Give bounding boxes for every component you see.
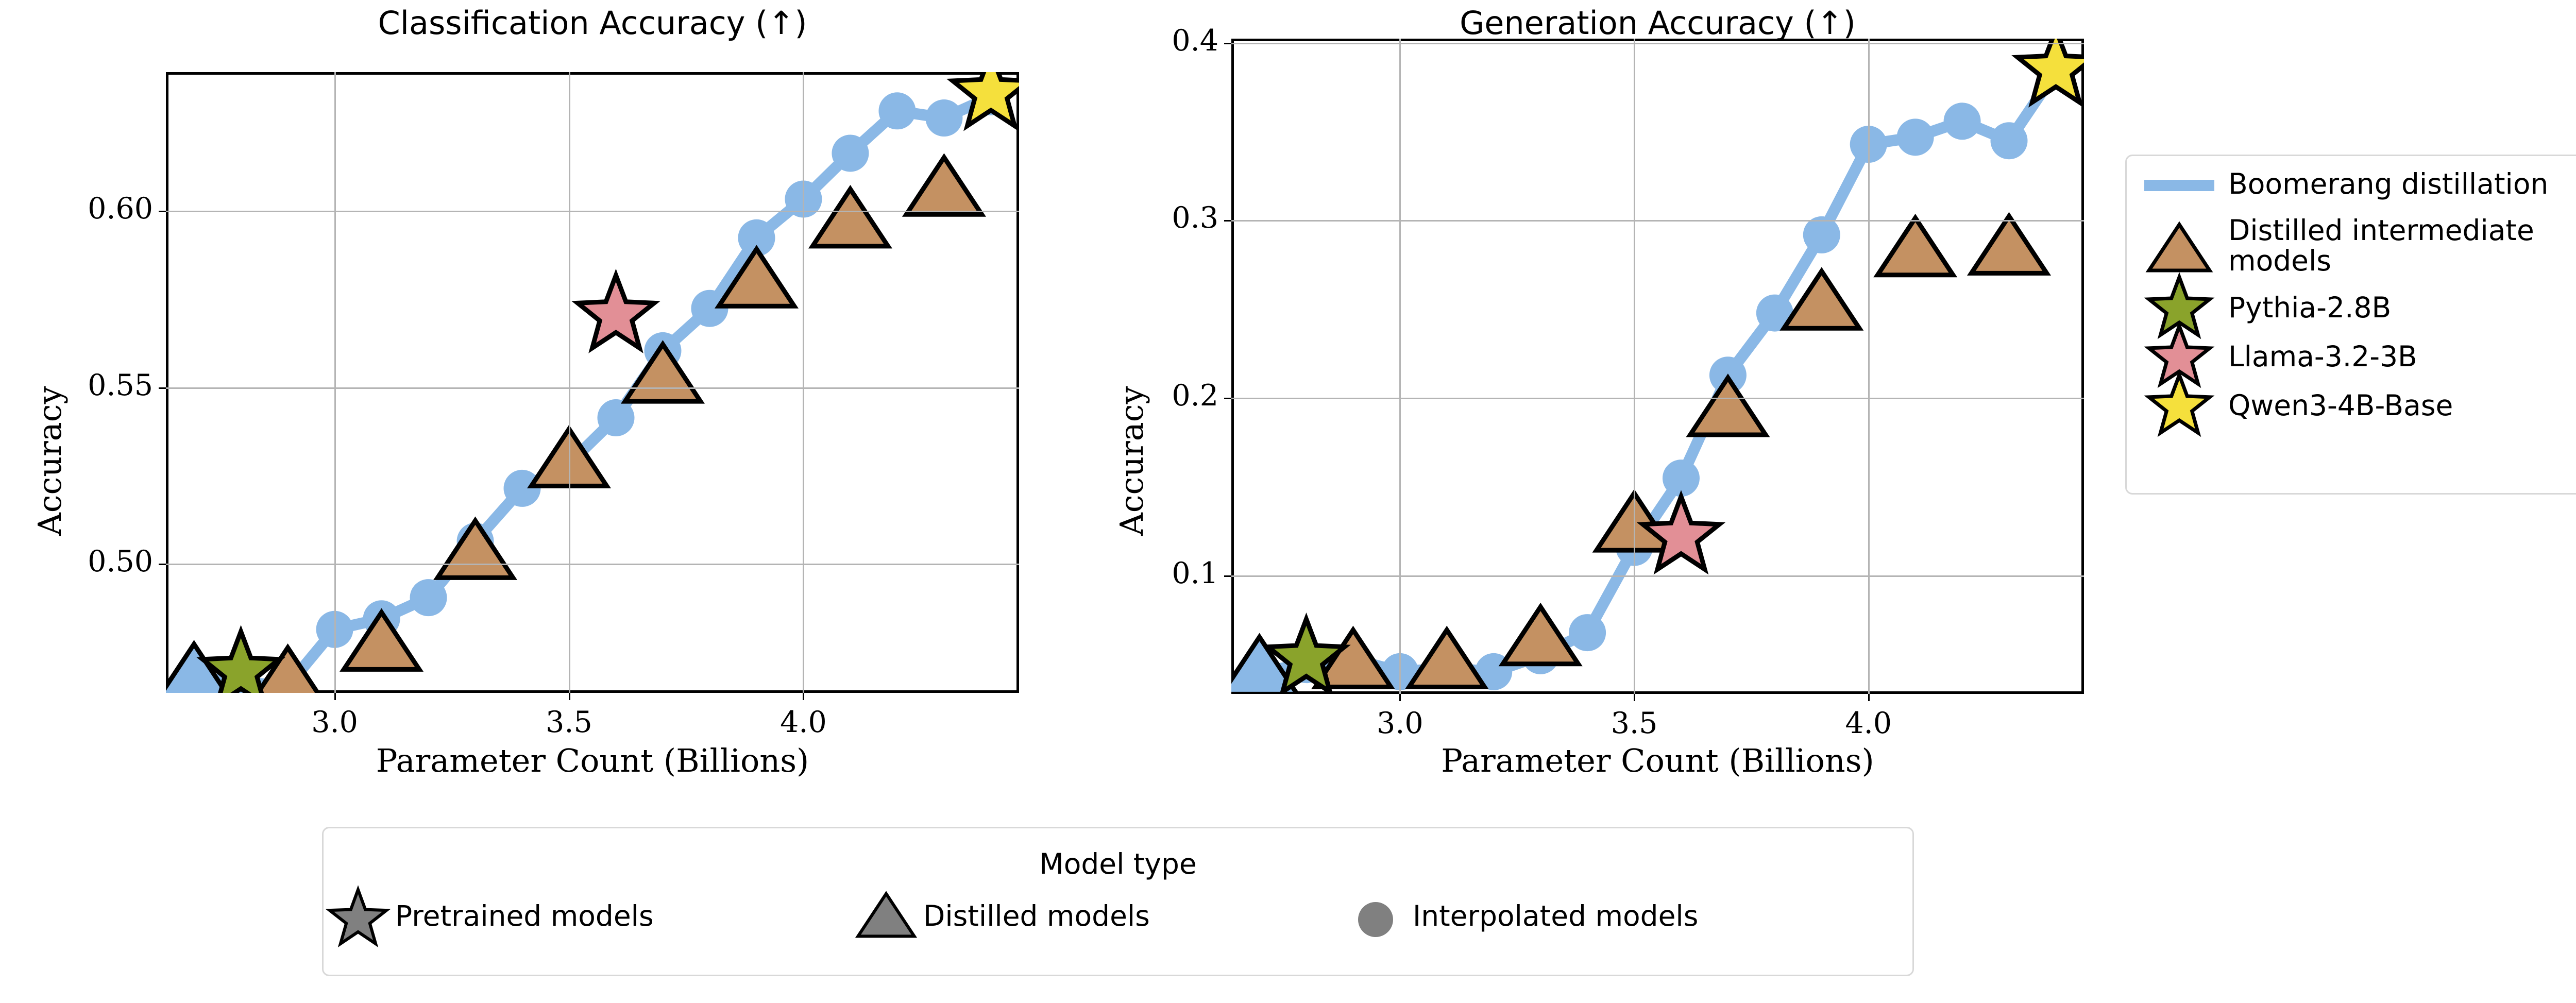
- model-type-legend-title: Model type: [322, 847, 1914, 880]
- x-tick-label: 3.5: [502, 705, 636, 739]
- model-type-legend-label: Interpolated models: [1413, 901, 1698, 931]
- y-tick-mark: [1224, 398, 1231, 399]
- y-tick-label: 0.3: [1066, 201, 1218, 235]
- y-tick-label: 0.1: [1066, 556, 1218, 590]
- xaxis-label-generation: Parameter Count (Billions): [1231, 742, 2084, 779]
- x-gridline: [803, 72, 804, 693]
- distilled-intermediate-model-marker: [1690, 378, 1766, 435]
- y-tick-label: 0.50: [1, 545, 153, 579]
- y-tick-label: 0.55: [1, 368, 153, 402]
- legend-label: Llama-3.2-3B: [2228, 342, 2576, 372]
- model-type-legend-label: Pretrained models: [395, 901, 654, 931]
- x-tick-mark: [1634, 694, 1635, 701]
- y-tick-mark: [159, 387, 166, 389]
- x-tick-mark: [803, 693, 804, 700]
- x-gridline: [1399, 39, 1401, 694]
- x-gridline: [569, 72, 570, 693]
- y-tick-label: 0.2: [1066, 379, 1218, 413]
- interpolated-model-marker: [1897, 118, 1934, 156]
- x-tick-label: 3.5: [1567, 706, 1701, 740]
- y-gridline: [1231, 398, 2084, 399]
- x-tick-label: 3.0: [268, 705, 402, 739]
- y-tick-mark: [1224, 43, 1231, 44]
- distilled-intermediate-model-marker: [1971, 216, 2046, 274]
- x-gridline: [334, 72, 336, 693]
- y-tick-mark: [1224, 575, 1231, 577]
- interpolated-model-marker: [1803, 216, 1840, 253]
- x-gridline: [1868, 39, 1870, 694]
- y-tick-mark: [1224, 220, 1231, 222]
- x-tick-mark: [1399, 694, 1401, 701]
- distilled-intermediate-model-marker: [1409, 630, 1484, 687]
- y-gridline: [1231, 43, 2084, 44]
- y-tick-mark: [159, 564, 166, 565]
- x-tick-mark: [569, 693, 570, 700]
- legend-label: Distilled intermediate models: [2228, 215, 2576, 277]
- interpolated-model-marker: [1944, 103, 1981, 140]
- legend-label: Boomerang distillation: [2228, 169, 2576, 199]
- y-gridline: [166, 387, 1019, 389]
- y-gridline: [1231, 575, 2084, 577]
- x-gridline: [1634, 39, 1635, 694]
- y-gridline: [166, 564, 1019, 565]
- y-gridline: [1231, 220, 2084, 222]
- interpolated-model-marker: [1569, 614, 1606, 651]
- boomerang-distillation-line: [1260, 72, 2056, 672]
- x-tick-label: 3.0: [1333, 706, 1467, 740]
- y-tick-label: 0.4: [1066, 24, 1218, 58]
- x-tick-label: 4.0: [736, 705, 870, 739]
- llama-3.2-3b-marker: [1643, 497, 1719, 569]
- y-tick-label: 0.60: [1, 192, 153, 226]
- series-legend[interactable]: [2125, 155, 2576, 495]
- model-type-legend-label: Distilled models: [923, 901, 1150, 931]
- x-tick-mark: [1868, 694, 1870, 701]
- y-gridline: [166, 211, 1019, 212]
- legend-label: Pythia-2.8B: [2228, 293, 2576, 323]
- distilled-intermediate-model-marker: [1503, 607, 1578, 664]
- distilled-intermediate-model-marker: [1877, 218, 1953, 275]
- y-tick-mark: [159, 211, 166, 212]
- interpolated-model-marker: [1991, 122, 2028, 159]
- legend-label: Qwen3-4B-Base: [2228, 390, 2576, 421]
- x-tick-label: 4.0: [1802, 706, 1936, 740]
- x-tick-mark: [334, 693, 336, 700]
- qwen3-4b-base-marker: [2018, 29, 2094, 102]
- figure-canvas: Classification Accuracy (↑) Parameter Co…: [0, 0, 2576, 1003]
